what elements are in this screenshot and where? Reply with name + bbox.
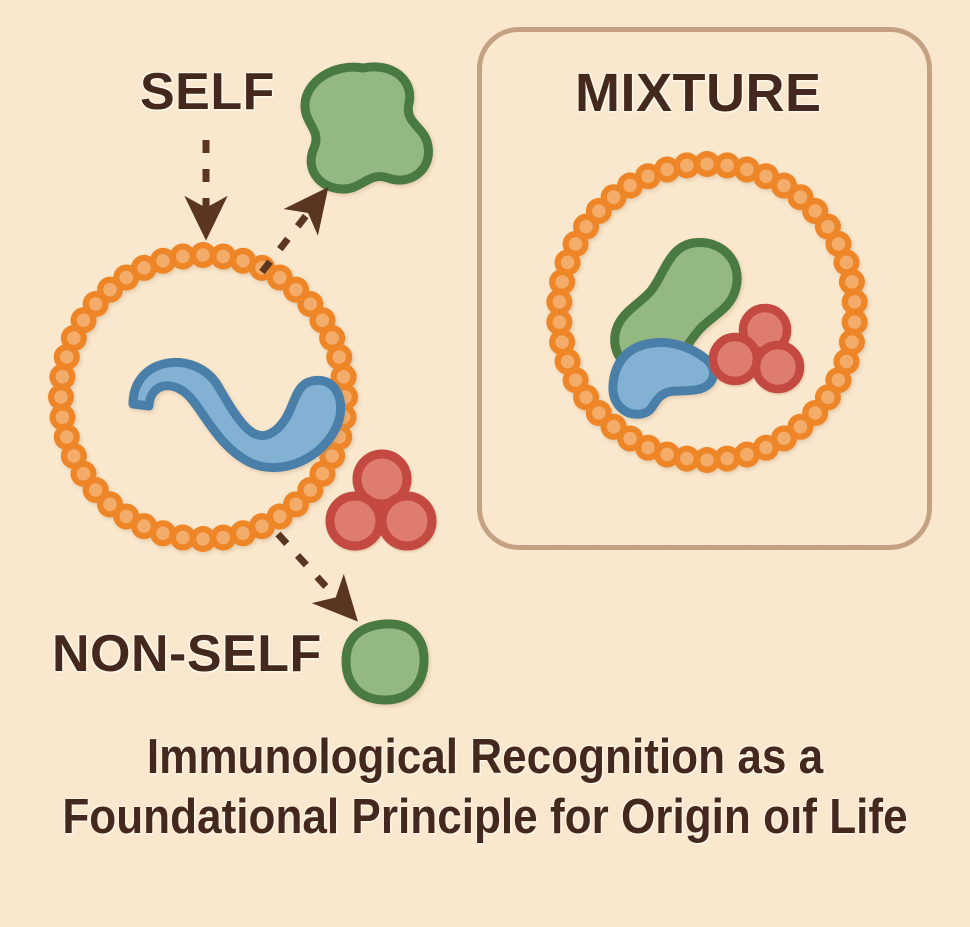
- lipid-bead-core: [325, 331, 339, 345]
- lipid-bead-core: [337, 370, 351, 384]
- lipid-bead-core: [332, 350, 346, 364]
- lipid-bead-core: [255, 519, 269, 533]
- lipid-bead-core: [316, 313, 330, 327]
- lipid-bead-core: [103, 283, 117, 297]
- non-self-macromolecule-green-oval: [346, 624, 424, 700]
- lipid-bead-core: [236, 526, 250, 540]
- non-self-label: NON-SELF: [52, 624, 322, 684]
- lipid-bead-core: [54, 390, 68, 404]
- self-macromolecule-green-blob: [305, 67, 429, 189]
- lipid-bead-core: [119, 271, 133, 285]
- lipid-bead-core: [89, 297, 103, 311]
- arrow-vesicle-to-self-blob: [262, 208, 312, 272]
- lipid-bead-core: [156, 254, 170, 268]
- lipid-bead-core: [137, 519, 151, 533]
- figure-root: SELF NON-SELF MIXTURE Immunological Reco…: [0, 0, 970, 927]
- lipid-bead-core: [216, 250, 230, 264]
- lipid-bead-core: [196, 248, 210, 262]
- lipid-bead-core: [67, 331, 81, 345]
- lipid-bead-core: [56, 370, 70, 384]
- figure-title: Immunological Recognition as a Foundatio…: [49, 728, 922, 848]
- lipid-bead-core: [60, 430, 74, 444]
- non-self-particles-red-trio-left: [330, 454, 432, 546]
- lipid-bead-core: [89, 483, 103, 497]
- lipid-bead-core: [67, 449, 81, 463]
- lipid-bead-core: [289, 498, 303, 512]
- lipid-bead-core: [176, 250, 190, 264]
- lipid-bead-core: [289, 283, 303, 297]
- self-polymer-blue-wave: [133, 362, 341, 467]
- lipid-bead-core: [196, 532, 210, 546]
- lipid-bead-core: [119, 510, 133, 524]
- self-label: SELF: [140, 62, 275, 122]
- lipid-bead-core: [77, 467, 91, 481]
- lipid-bead-core: [316, 467, 330, 481]
- lipid-bead-core: [304, 483, 318, 497]
- lipid-bead-core: [273, 271, 287, 285]
- lipid-bead-core: [56, 410, 70, 424]
- lipid-bead-core: [236, 254, 250, 268]
- mixture-label: MIXTURE: [575, 62, 822, 124]
- lipid-bead-core: [103, 498, 117, 512]
- lipid-bead-core: [176, 531, 190, 545]
- lipid-bead-core: [304, 297, 318, 311]
- lipid-bead-core: [60, 350, 74, 364]
- lipid-bead-core: [77, 313, 91, 327]
- lipid-bead-core: [216, 531, 230, 545]
- lipid-bead-core: [273, 510, 287, 524]
- arrow-vesicle-to-non-self: [278, 534, 340, 602]
- lipid-bead-core: [325, 449, 339, 463]
- lipid-bead-core: [137, 261, 151, 275]
- lipid-bead-core: [156, 526, 170, 540]
